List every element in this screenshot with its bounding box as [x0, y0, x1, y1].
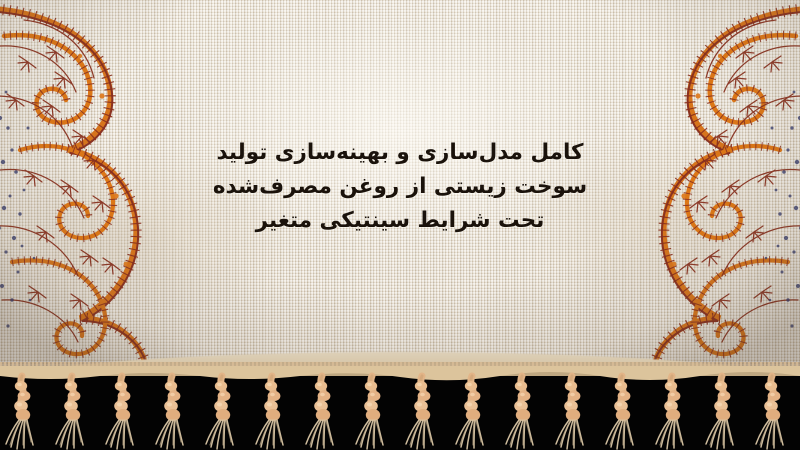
title-block: کامل مدل‌سازی و بهینه‌سازی تولید سوخت زی… — [0, 0, 800, 374]
tassel-fringe — [0, 366, 800, 450]
title-line-2: سوخت زیستی از روغن مصرف‌شده — [213, 170, 587, 204]
title-line-3: تحت شرایط سینتیکی متغیر — [256, 204, 545, 238]
title-line-1: کامل مدل‌سازی و بهینه‌سازی تولید — [216, 136, 583, 170]
slide-canvas: کامل مدل‌سازی و بهینه‌سازی تولید سوخت زی… — [0, 0, 800, 450]
